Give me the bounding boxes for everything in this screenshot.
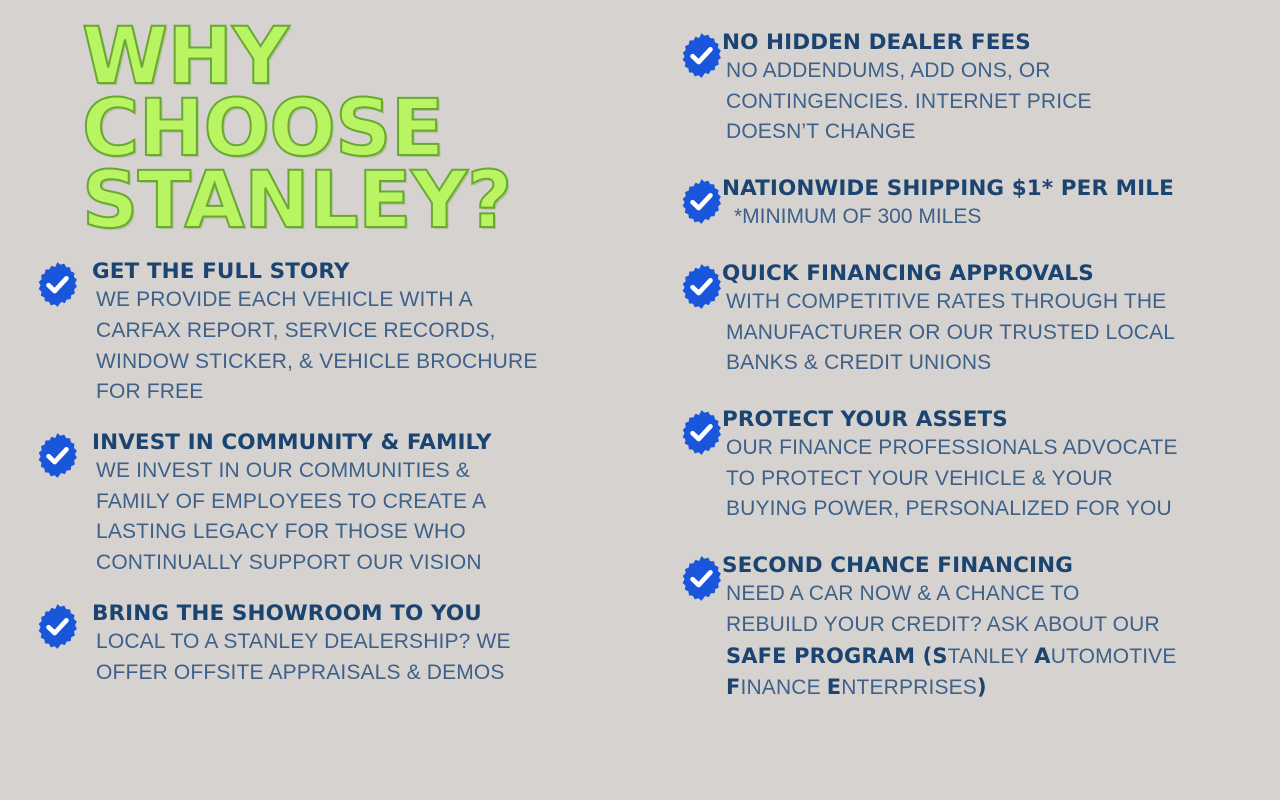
headline-line-1: WHY bbox=[82, 22, 600, 94]
feature-body-line: WINDOW STICKER, & VEHICLE BROCHURE bbox=[96, 347, 600, 378]
feature-item: NATIONWIDE SHIPPING $1* PER MILE *MINIMU… bbox=[660, 176, 1240, 233]
feature-body: LOCAL TO A STANLEY DEALERSHIP? WE OFFER … bbox=[96, 627, 600, 688]
feature-body-line: NEED A CAR NOW & A CHANCE TO bbox=[726, 579, 1240, 610]
left-column: WHY CHOOSE STANLEY? GET THE FULL STORY W… bbox=[0, 0, 640, 800]
feature-body: WE PROVIDE EACH VEHICLE WITH A CARFAX RE… bbox=[96, 285, 600, 408]
feature-body-line: BUYING POWER, PERSONALIZED FOR YOU bbox=[726, 494, 1240, 525]
feature-body-line: REBUILD YOUR CREDIT? ASK ABOUT OUR bbox=[726, 610, 1240, 641]
verified-check-badge-icon bbox=[678, 178, 725, 225]
verified-check-badge-icon bbox=[34, 261, 81, 308]
feature-body-line: BANKS & CREDIT UNIONS bbox=[726, 348, 1240, 379]
feature-body-line: WITH COMPETITIVE RATES THROUGH THE bbox=[726, 287, 1240, 318]
feature-body-line: DOESN’T CHANGE bbox=[726, 117, 1240, 148]
feature-item: BRING THE SHOWROOM TO YOU LOCAL TO A STA… bbox=[30, 601, 600, 688]
feature-item: QUICK FINANCING APPROVALS WITH COMPETITI… bbox=[660, 261, 1240, 379]
feature-body: WITH COMPETITIVE RATES THROUGH THE MANUF… bbox=[726, 287, 1240, 379]
headline-line-3: STANLEY? bbox=[82, 166, 600, 238]
feature-title: INVEST IN COMMUNITY & FAMILY bbox=[92, 430, 600, 455]
feature-title: SECOND CHANCE FINANCING bbox=[722, 553, 1240, 578]
feature-body-line: NO ADDENDUMS, ADD ONS, OR bbox=[726, 56, 1240, 87]
feature-body-line: MANUFACTURER OR OUR TRUSTED LOCAL bbox=[726, 318, 1240, 349]
page-title: WHY CHOOSE STANLEY? bbox=[30, 22, 600, 237]
feature-body-line: WE INVEST IN OUR COMMUNITIES & bbox=[96, 456, 600, 487]
feature-title: QUICK FINANCING APPROVALS bbox=[722, 261, 1240, 286]
feature-body: NO ADDENDUMS, ADD ONS, OR CONTINGENCIES.… bbox=[726, 56, 1240, 148]
feature-title: PROTECT YOUR ASSETS bbox=[722, 407, 1240, 432]
verified-check-badge-icon bbox=[34, 432, 81, 479]
feature-body-rich-line: FINANCE ENTERPRISES) bbox=[726, 672, 1240, 704]
feature-body-line: WE PROVIDE EACH VEHICLE WITH A bbox=[96, 285, 600, 316]
feature-item: GET THE FULL STORY WE PROVIDE EACH VEHIC… bbox=[30, 259, 600, 408]
feature-body: OUR FINANCE PROFESSIONALS ADVOCATE TO PR… bbox=[726, 433, 1240, 525]
verified-check-badge-icon bbox=[678, 263, 725, 310]
feature-body-line: CONTINUALLY SUPPORT OUR VISION bbox=[96, 548, 600, 579]
feature-title: NO HIDDEN DEALER FEES bbox=[722, 30, 1240, 55]
why-choose-stanley-poster: WHY CHOOSE STANLEY? GET THE FULL STORY W… bbox=[0, 0, 1280, 800]
feature-item: INVEST IN COMMUNITY & FAMILY WE INVEST I… bbox=[30, 430, 600, 579]
feature-body-line: TO PROTECT YOUR VEHICLE & YOUR bbox=[726, 464, 1240, 495]
verified-check-badge-icon bbox=[34, 603, 81, 650]
feature-body-line: CARFAX REPORT, SERVICE RECORDS, bbox=[96, 316, 600, 347]
feature-body-line: LOCAL TO A STANLEY DEALERSHIP? WE bbox=[96, 627, 600, 658]
verified-check-badge-icon bbox=[678, 409, 725, 456]
feature-body-line: FOR FREE bbox=[96, 377, 600, 408]
feature-title: NATIONWIDE SHIPPING $1* PER MILE bbox=[722, 176, 1240, 201]
feature-item: PROTECT YOUR ASSETS OUR FINANCE PROFESSI… bbox=[660, 407, 1240, 525]
feature-body-line: OFFER OFFSITE APPRAISALS & DEMOS bbox=[96, 658, 600, 689]
feature-item: SECOND CHANCE FINANCING NEED A CAR NOW &… bbox=[660, 553, 1240, 704]
verified-check-badge-icon bbox=[678, 32, 725, 79]
feature-item: NO HIDDEN DEALER FEES NO ADDENDUMS, ADD … bbox=[660, 30, 1240, 148]
feature-body: WE INVEST IN OUR COMMUNITIES & FAMILY OF… bbox=[96, 456, 600, 579]
feature-body: NEED A CAR NOW & A CHANCE TO REBUILD YOU… bbox=[726, 579, 1240, 704]
feature-title: BRING THE SHOWROOM TO YOU bbox=[92, 601, 600, 626]
feature-body-line: FAMILY OF EMPLOYEES TO CREATE A bbox=[96, 487, 600, 518]
headline-line-2: CHOOSE bbox=[82, 94, 600, 166]
right-column: NO HIDDEN DEALER FEES NO ADDENDUMS, ADD … bbox=[640, 0, 1280, 800]
verified-check-badge-icon bbox=[678, 555, 725, 602]
feature-body-line: OUR FINANCE PROFESSIONALS ADVOCATE bbox=[726, 433, 1240, 464]
feature-body-rich-line: SAFE PROGRAM (STANLEY AUTOMOTIVE bbox=[726, 641, 1240, 673]
feature-title: GET THE FULL STORY bbox=[92, 259, 600, 284]
feature-body-line: CONTINGENCIES. INTERNET PRICE bbox=[726, 87, 1240, 118]
feature-footnote: *MINIMUM OF 300 MILES bbox=[734, 202, 1240, 233]
feature-body-line: LASTING LEGACY FOR THOSE WHO bbox=[96, 517, 600, 548]
